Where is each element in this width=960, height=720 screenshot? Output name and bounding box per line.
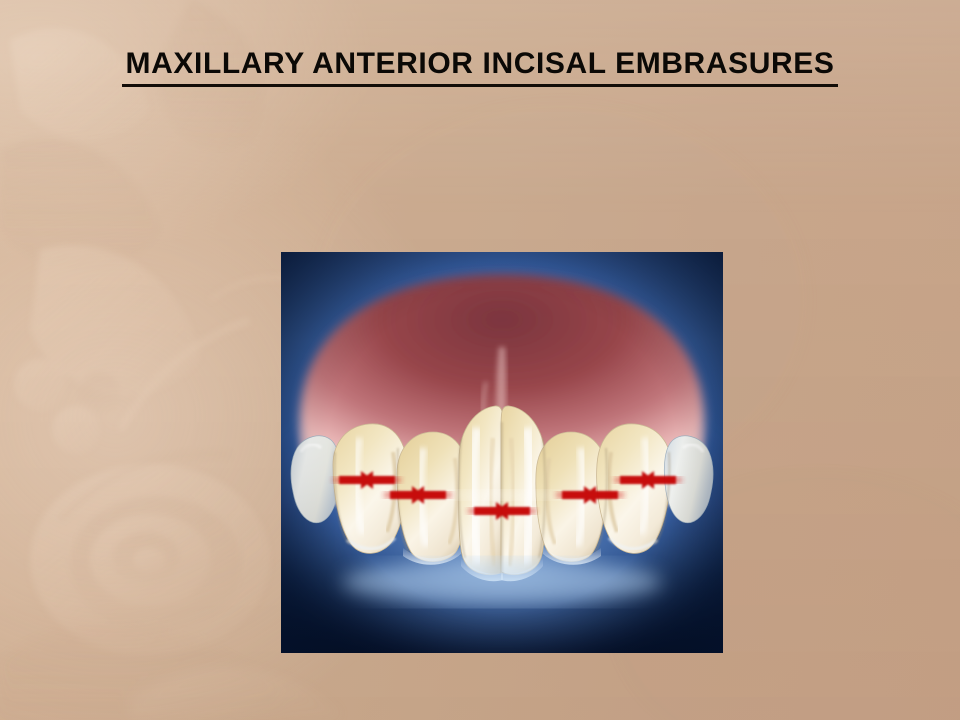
title-container: MAXILLARY ANTERIOR INCISAL EMBRASURES (0, 48, 960, 87)
teeth-illustration (281, 252, 723, 653)
page-title: MAXILLARY ANTERIOR INCISAL EMBRASURES (122, 48, 839, 87)
clinical-photo (281, 252, 723, 653)
slide: MAXILLARY ANTERIOR INCISAL EMBRASURES (0, 0, 960, 720)
